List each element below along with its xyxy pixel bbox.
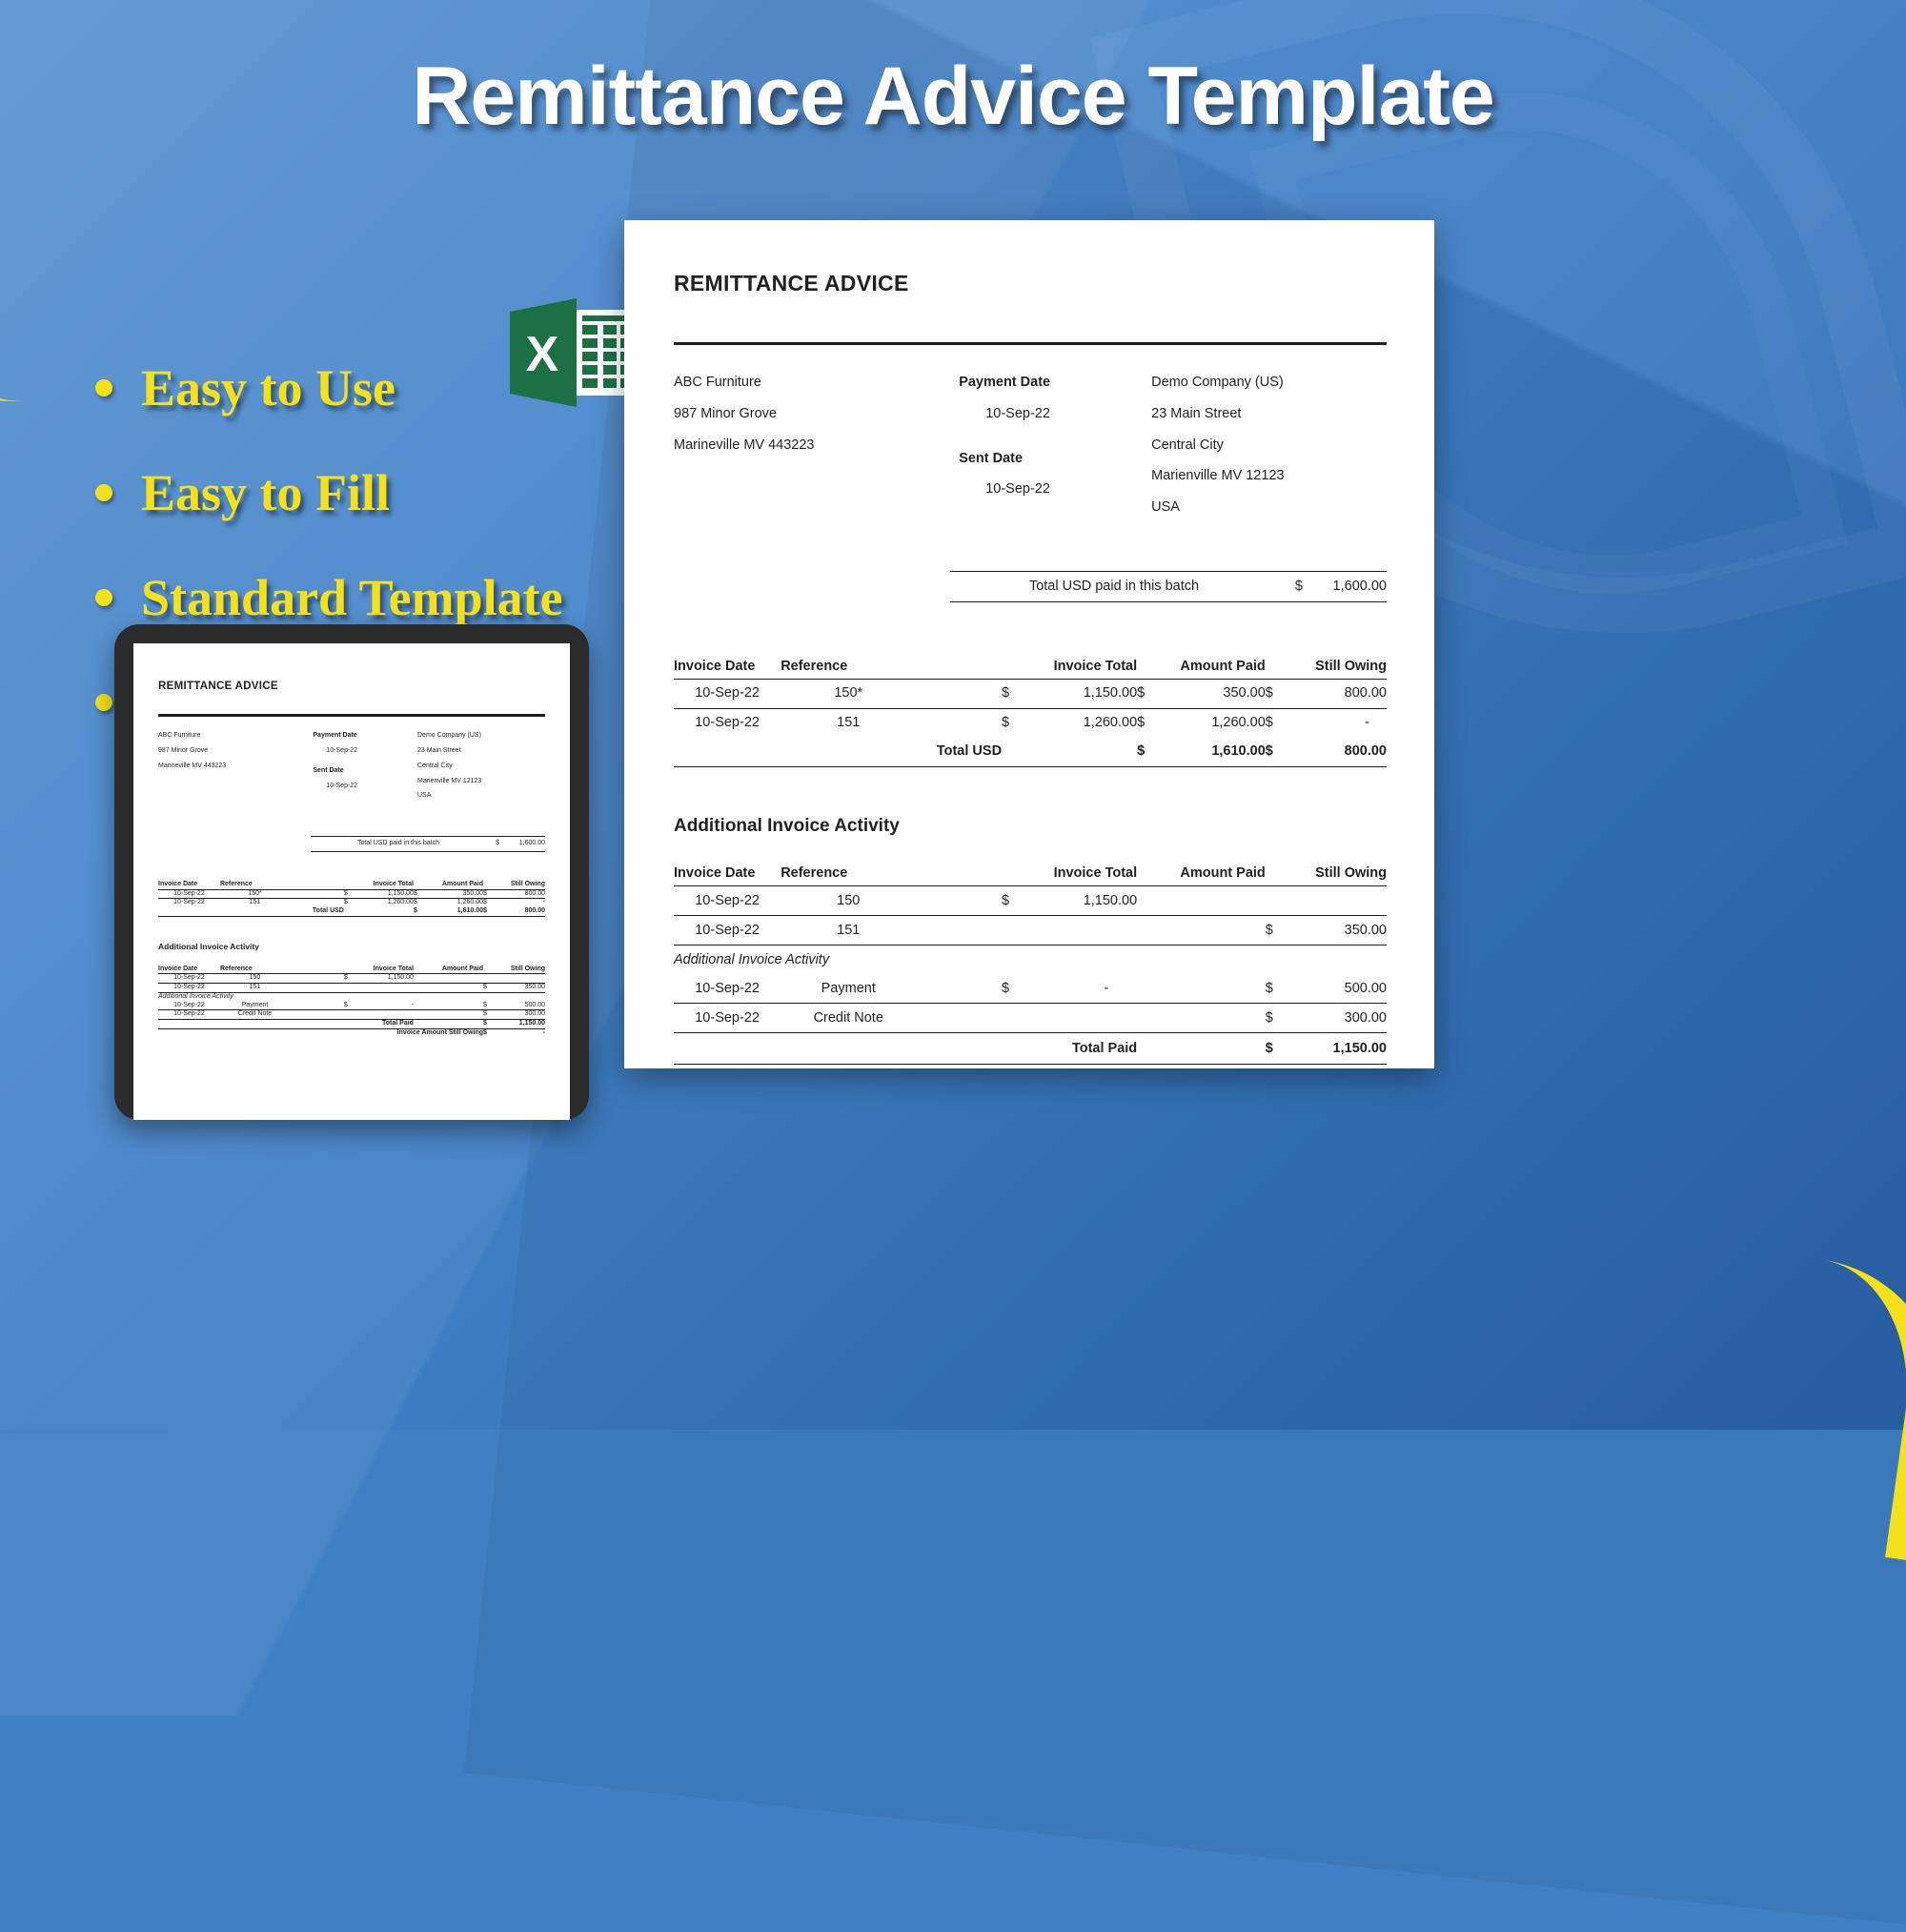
bullet-dot-icon [95, 694, 112, 711]
sent-date-value-small: 10-Sep-22 [313, 783, 417, 791]
recipient-city-small: Central City [417, 763, 545, 771]
bullet-dot-icon [95, 589, 112, 606]
activity-col-still-owing: Still Owing [1266, 864, 1387, 883]
batch-total-label-small: Total USD paid in this batch [311, 840, 486, 848]
activity-col-reference: Reference [781, 864, 916, 883]
sent-date-label: Sent Date [959, 450, 1151, 468]
tablet-screen: REMITTANCE ADVICE ABC Furniture 987 Mino… [133, 643, 570, 1120]
table-row: 10-Sep-22 150 $1,150.00 [674, 886, 1387, 915]
col-invoice-total-small: Invoice Total [344, 881, 414, 889]
excel-letter-x: X [526, 327, 559, 382]
table-row: 10-Sep-22 150 $1,150.00 [158, 974, 545, 983]
activity-heading: Additional Invoice Activity [674, 815, 1387, 839]
sender-street: 987 Minor Grove [674, 405, 959, 423]
col-reference: Reference [781, 658, 916, 676]
activity-col-amount-paid: Amount Paid [1137, 864, 1266, 883]
document-title-small: REMITTANCE ADVICE [158, 680, 545, 693]
table-row: 10-Sep-22 151 $350.00 [674, 916, 1387, 945]
document-title: REMITTANCE ADVICE [674, 270, 1387, 298]
batch-total-currency-small: $ [486, 840, 499, 848]
col-invoice-date-small: Invoice Date [158, 881, 220, 889]
total-paid-row: Total Paid $1,150.00 [674, 1033, 1387, 1064]
table-row: 10-Sep-22 150* $1,150.00 $350.00 $800.00 [674, 680, 1387, 708]
total-paid-row: Total Paid $1,150.00 [158, 1020, 545, 1028]
bullet-dot-icon [95, 379, 112, 397]
still-owing-total-row: Invoice Amount Still Owing $- [674, 1065, 1387, 1068]
col-invoice-total: Invoice Total [1002, 658, 1137, 676]
sender-city: Marineville MV 443223 [674, 437, 959, 455]
col-still-owing-small: Still Owing [483, 881, 545, 889]
col-invoice-date: Invoice Date [674, 658, 781, 676]
sender-name-small: ABC Furniture [158, 732, 313, 741]
activity-subheading-row: Additional Invoice Activity [674, 946, 1387, 974]
recipient-city: Central City [1151, 437, 1387, 455]
batch-total-amount-small: 1,600.00 [499, 840, 545, 848]
recipient-country: USA [1151, 498, 1387, 517]
recipient-street: 23 Main Street [1151, 405, 1387, 423]
sender-street-small: 987 Minor Grove [158, 747, 313, 756]
batch-total-currency: $ [1278, 578, 1303, 596]
recipient-country-small: USA [417, 792, 545, 801]
remittance-advice-document: REMITTANCE ADVICE ABC Furniture 987 Mino… [624, 220, 1434, 1068]
sent-date-label-small: Sent Date [313, 767, 417, 776]
activity-heading-small: Additional Invoice Activity [158, 942, 545, 952]
payment-date-label-small: Payment Date [313, 732, 417, 741]
col-reference-small: Reference [220, 881, 290, 889]
table-row: 10-Sep-22 151 $1,260.00 $1,260.00 $- [158, 899, 545, 907]
sent-date-value: 10-Sep-22 [959, 480, 1151, 498]
table-row: 10-Sep-22 Credit Note $300.00 [158, 1010, 545, 1019]
page-title: Remittance Advice Template [0, 50, 1906, 144]
col-amount-paid: Amount Paid [1137, 658, 1266, 676]
col-still-owing: Still Owing [1266, 658, 1387, 676]
sender-name: ABC Furniture [674, 374, 959, 392]
recipient-name-small: Demo Company (US) [417, 732, 545, 741]
table-row: 10-Sep-22 Payment $- $500.00 [158, 1002, 545, 1010]
activity-subheading-row: Additional Invoice Activity [158, 993, 545, 1002]
payment-date-label: Payment Date [959, 374, 1151, 392]
table-row: 10-Sep-22 Payment $- $500.00 [674, 974, 1387, 1003]
col-amount-paid-small: Amount Paid [414, 881, 483, 889]
recipient-street-small: 23 Main Street [417, 747, 545, 756]
batch-total-label: Total USD paid in this batch [950, 578, 1278, 596]
bullet-label: Easy to Use [141, 362, 395, 414]
tablet-mockup: REMITTANCE ADVICE ABC Furniture 987 Mino… [114, 624, 589, 1120]
recipient-region-small: Marienville MV 12123 [417, 778, 545, 786]
activity-col-invoice-date: Invoice Date [674, 864, 781, 883]
table-row: 10-Sep-22 150* $1,150.00 $350.00 $800.00 [158, 890, 545, 899]
bullet-label: Easy to Fill [141, 467, 390, 519]
table-total-row: Total USD $1,610.00 $800.00 [674, 738, 1387, 766]
recipient-name: Demo Company (US) [1151, 374, 1387, 392]
activity-col-invoice-total: Invoice Total [1002, 864, 1137, 883]
payment-date-value: 10-Sep-22 [959, 405, 1151, 423]
table-row: 10-Sep-22 Credit Note $300.00 [674, 1004, 1387, 1032]
table-row: 10-Sep-22 151 $1,260.00 $1,260.00 $- [674, 709, 1387, 738]
recipient-region: Marienville MV 12123 [1151, 467, 1387, 485]
sender-city-small: Marineville MV 443223 [158, 763, 313, 771]
excel-icon: X [508, 296, 641, 409]
bullet-dot-icon [95, 484, 112, 501]
payment-date-value-small: 10-Sep-22 [313, 747, 417, 756]
batch-total-amount: 1,600.00 [1303, 578, 1387, 596]
table-row: 10-Sep-22 151 $350.00 [158, 984, 545, 992]
still-owing-total-row: Invoice Amount Still Owing $- [158, 1029, 545, 1038]
bullet-label: Standard Template [141, 572, 563, 623]
table-total-row: Total USD $1,610.00 $800.00 [158, 907, 545, 916]
